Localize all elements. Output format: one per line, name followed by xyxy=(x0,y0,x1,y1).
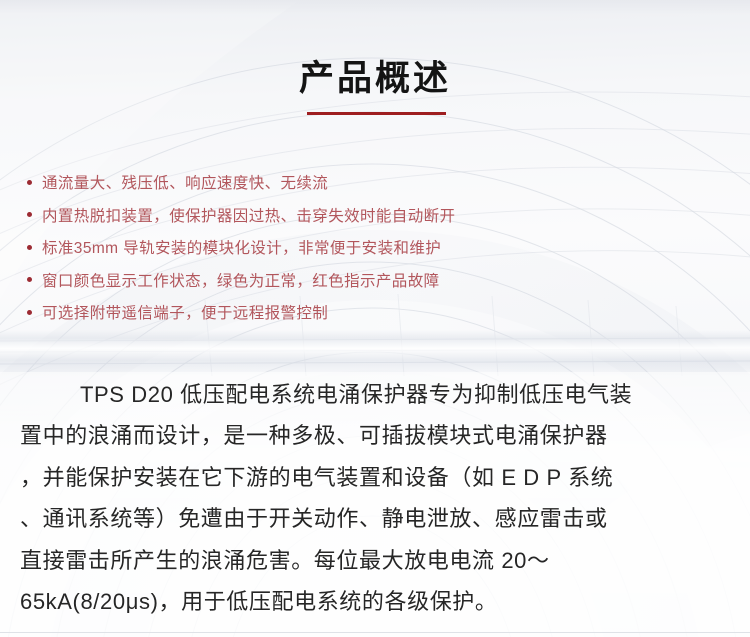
bottom-divider xyxy=(0,632,750,633)
description-line: TPS D20 低压配电系统电涌保护器专为抑制低压电气装 xyxy=(18,372,732,414)
description-line: 65kA(8/20μs)，用于低压配电系统的各级保护。 xyxy=(18,580,732,622)
feature-label: 内置热脱扣装置，使保护器因过热、击穿失效时能自动断开 xyxy=(42,204,455,226)
description-line: ，并能保护安装在它下游的电气装置和设备（如 E D P 系统 xyxy=(18,455,732,497)
bullet-dot-icon xyxy=(27,180,32,185)
title-underline xyxy=(307,112,446,115)
mid-sheen-band xyxy=(0,330,750,376)
top-shadow-band xyxy=(0,0,750,14)
page-title: 产品概述 xyxy=(299,58,451,99)
feature-list: 通流量大、残压低、响应速度快、无续流 内置热脱扣装置，使保护器因过热、击穿失效时… xyxy=(27,166,727,329)
list-item: 标准35mm 导轨安装的模块化设计，非常便于安装和维护 xyxy=(27,231,727,264)
product-description: TPS D20 低压配电系统电涌保护器专为抑制低压电气装 置中的浪涌而设计，是一… xyxy=(18,372,732,621)
description-line: 、通讯系统等）免遭由于开关动作、静电泄放、感应雷击或 xyxy=(18,497,732,539)
bullet-dot-icon xyxy=(27,212,32,217)
bullet-dot-icon xyxy=(27,277,32,282)
description-line: 直接雷击所产生的浪涌危害。每位最大放电电流 20～ xyxy=(18,538,732,580)
feature-label: 可选择附带遥信端子，便于远程报警控制 xyxy=(42,301,328,323)
feature-label: 窗口颜色显示工作状态，绿色为正常，红色指示产品故障 xyxy=(42,269,440,291)
description-line: 置中的浪涌而设计，是一种多极、可插拔模块式电涌保护器 xyxy=(18,414,732,456)
feature-label: 通流量大、残压低、响应速度快、无续流 xyxy=(42,171,328,193)
bullet-dot-icon xyxy=(27,310,32,315)
section-header: 产品概述 xyxy=(0,58,750,99)
list-item: 通流量大、残压低、响应速度快、无续流 xyxy=(27,166,727,199)
bullet-dot-icon xyxy=(27,245,32,250)
list-item: 窗口颜色显示工作状态，绿色为正常，红色指示产品故障 xyxy=(27,264,727,297)
product-overview-page: 产品概述 通流量大、残压低、响应速度快、无续流 内置热脱扣装置，使保护器因过热、… xyxy=(0,0,750,637)
feature-label: 标准35mm 导轨安装的模块化设计，非常便于安装和维护 xyxy=(42,236,441,258)
list-item: 内置热脱扣装置，使保护器因过热、击穿失效时能自动断开 xyxy=(27,199,727,232)
list-item: 可选择附带遥信端子，便于远程报警控制 xyxy=(27,296,727,329)
